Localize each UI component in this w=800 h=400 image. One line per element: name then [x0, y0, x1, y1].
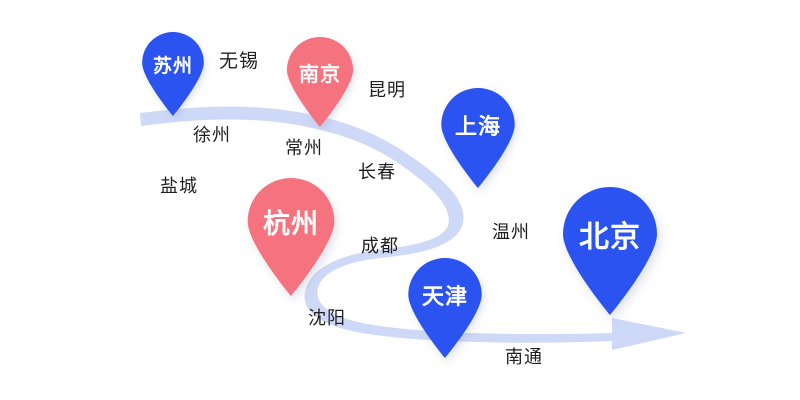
city-label-wenzhou: 温州	[492, 224, 530, 242]
map-pin-tianjin[interactable]: 天津	[405, 258, 485, 358]
city-label-wuxi: 无锡	[219, 52, 259, 71]
flow-ribbon	[0, 0, 800, 400]
map-pin-label-beijing: 北京	[557, 223, 663, 253]
map-pin-beijing[interactable]: 北京	[557, 187, 663, 315]
city-ranking-infographic: 无锡 昆明 徐州 常州 盐城 长春 温州 成都 沈阳 南通 苏州 南京 上海 杭…	[0, 0, 800, 400]
map-pin-suzhou[interactable]: 苏州	[140, 32, 206, 116]
map-pin-label-shanghai: 上海	[438, 117, 518, 139]
city-label-changzhou: 常州	[285, 140, 323, 158]
city-label-yancheng: 盐城	[160, 178, 198, 196]
map-pin-label-suzhou: 苏州	[140, 57, 206, 76]
map-pin-nanjing[interactable]: 南京	[284, 37, 356, 127]
map-pin-label-hangzhou: 杭州	[243, 211, 339, 238]
city-label-shenyang: 沈阳	[308, 310, 346, 328]
map-pin-label-tianjin: 天津	[405, 287, 485, 309]
city-label-changchun: 长春	[358, 164, 396, 182]
map-pin-label-nanjing: 南京	[284, 64, 356, 84]
city-label-nantong: 南通	[505, 349, 543, 367]
city-label-kunming: 昆明	[368, 82, 406, 100]
map-pin-hangzhou[interactable]: 杭州	[243, 178, 339, 296]
city-label-xuzhou: 徐州	[193, 127, 231, 145]
map-pin-shanghai[interactable]: 上海	[438, 88, 518, 188]
city-label-chengdu: 成都	[361, 238, 399, 256]
